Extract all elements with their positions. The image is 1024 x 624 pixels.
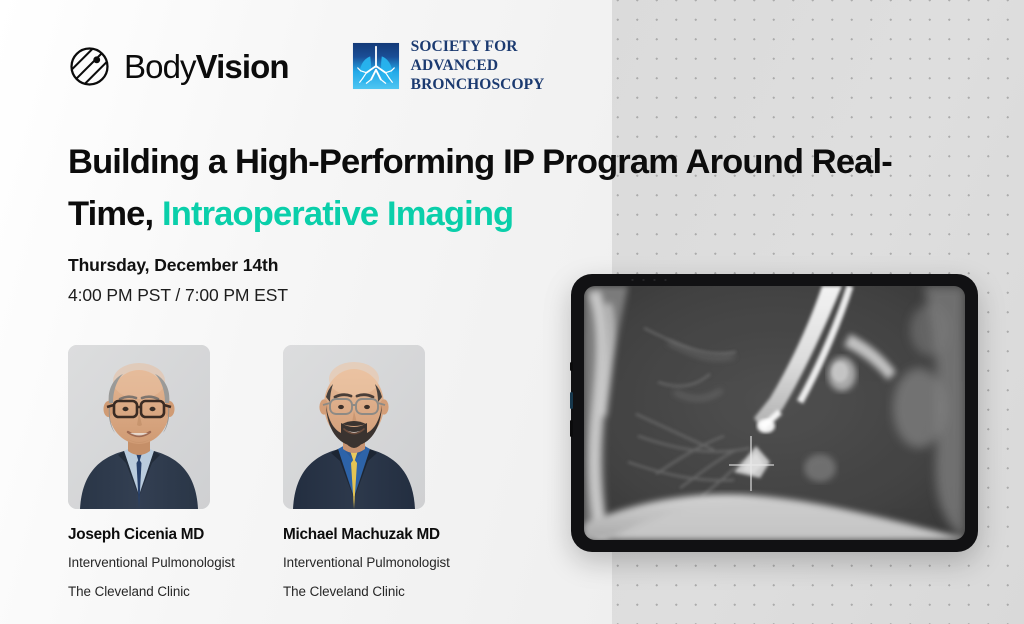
tablet-volume-up-button[interactable] — [570, 392, 573, 409]
event-datetime: Thursday, December 14th 4:00 PM PST / 7:… — [68, 252, 288, 309]
headline-accent: Intraoperative Imaging — [162, 195, 513, 233]
headshot-joseph-cicenia — [68, 345, 210, 509]
bodyvision-word-light: Body — [124, 48, 196, 85]
society-line-2: ADVANCED — [411, 57, 545, 76]
speaker-name: Michael Machuzak MD — [283, 526, 425, 544]
society-line-1: SOCIETY FOR — [411, 38, 545, 57]
speaker-card: Michael Machuzak MD Interventional Pulmo… — [283, 345, 425, 603]
speaker-role: Interventional Pulmonologist — [283, 553, 425, 574]
tablet-side-button[interactable] — [570, 362, 573, 371]
tablet-camera-dots-icon — [627, 278, 671, 282]
speaker-org: The Cleveland Clinic — [68, 582, 210, 603]
lungs-bronchial-tree-icon — [352, 41, 400, 91]
speaker-org: The Cleveland Clinic — [283, 582, 425, 603]
bodyvision-logo: BodyVision — [68, 45, 289, 88]
speaker-list: Joseph Cicenia MD Interventional Pulmono… — [68, 345, 425, 603]
event-time: 4:00 PM PST / 7:00 PM EST — [68, 281, 288, 309]
society-advanced-bronchoscopy-logo: SOCIETY FOR ADVANCED BRONCHOSCOPY — [352, 38, 545, 95]
speaker-card: Joseph Cicenia MD Interventional Pulmono… — [68, 345, 210, 603]
society-line-3: BRONCHOSCOPY — [411, 76, 545, 95]
promo-graphic: BodyVision — [0, 0, 1024, 624]
speaker-name: Joseph Cicenia MD — [68, 526, 210, 544]
bodyvision-wordmark: BodyVision — [124, 50, 289, 83]
tablet-volume-down-button[interactable] — [570, 420, 573, 437]
page-title: Building a High-Performing IP Program Ar… — [68, 137, 948, 241]
event-date: Thursday, December 14th — [68, 252, 288, 278]
tablet-device — [571, 274, 978, 552]
speaker-role: Interventional Pulmonologist — [68, 553, 210, 574]
logo-row: BodyVision — [68, 38, 544, 95]
society-wordmark: SOCIETY FOR ADVANCED BRONCHOSCOPY — [411, 38, 545, 95]
headshot-michael-machuzak — [283, 345, 425, 509]
bodyvision-word-bold: Vision — [196, 48, 289, 85]
tomographic-lung-image — [584, 286, 965, 540]
tablet-screen[interactable] — [584, 286, 965, 540]
bodyvision-circle-lines-icon — [68, 45, 111, 88]
